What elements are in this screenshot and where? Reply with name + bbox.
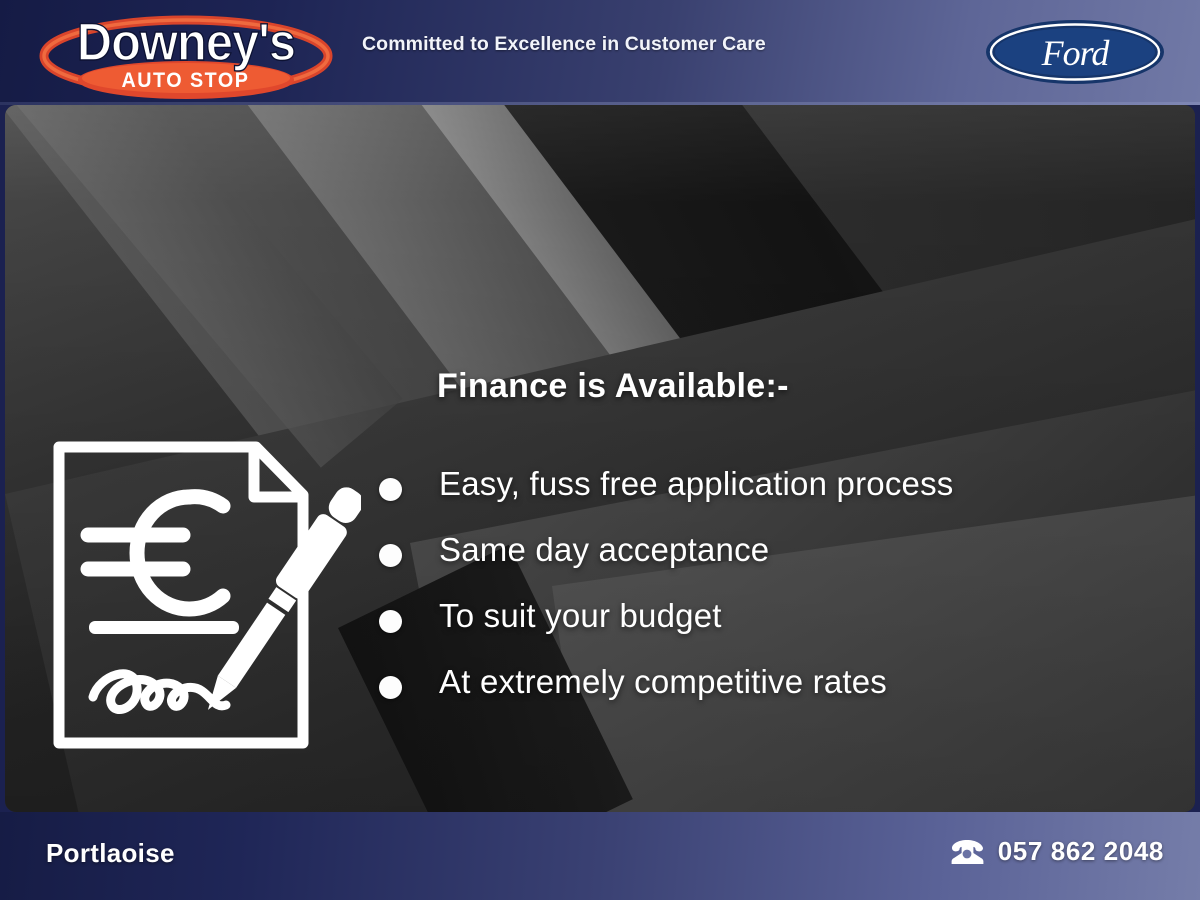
advert-banner: Downey's AUTO STOP Committed to Excellen…	[0, 0, 1200, 900]
downeys-logo[interactable]: Downey's AUTO STOP	[36, 4, 336, 100]
ford-logo[interactable]: Ford	[984, 18, 1166, 86]
tagline: Committed to Excellence in Customer Care	[362, 33, 766, 56]
svg-text:Ford: Ford	[1041, 33, 1111, 73]
main-panel: Finance is Available:- Easy, fuss free a…	[5, 105, 1195, 812]
list-item-label: Same day acceptance	[439, 531, 769, 569]
svg-text:AUTO STOP: AUTO STOP	[122, 69, 250, 92]
list-item-label: At extremely competitive rates	[439, 663, 887, 701]
bullet-dot-icon	[379, 676, 402, 699]
list-item: Easy, fuss free application process	[379, 465, 1179, 531]
benefits-list: Easy, fuss free application process Same…	[379, 465, 1179, 729]
bullet-dot-icon	[379, 610, 402, 633]
telephone-icon	[950, 839, 984, 865]
phone-number: 057 862 2048	[998, 836, 1164, 867]
finance-content: Finance is Available:- Easy, fuss free a…	[5, 105, 1195, 812]
svg-text:Downey's: Downey's	[77, 12, 295, 71]
list-item-label: To suit your budget	[439, 597, 722, 635]
list-item: Same day acceptance	[379, 531, 1179, 597]
list-item: At extremely competitive rates	[379, 663, 1179, 729]
list-item-label: Easy, fuss free application process	[439, 465, 953, 503]
list-item: To suit your budget	[379, 597, 1179, 663]
branch-location: Portlaoise	[46, 838, 175, 869]
page-title: Finance is Available:-	[437, 367, 789, 406]
bullet-dot-icon	[379, 478, 402, 501]
phone-contact[interactable]: 057 862 2048	[950, 836, 1164, 867]
bullet-dot-icon	[379, 544, 402, 567]
header-bar: Downey's AUTO STOP Committed to Excellen…	[0, 0, 1200, 105]
